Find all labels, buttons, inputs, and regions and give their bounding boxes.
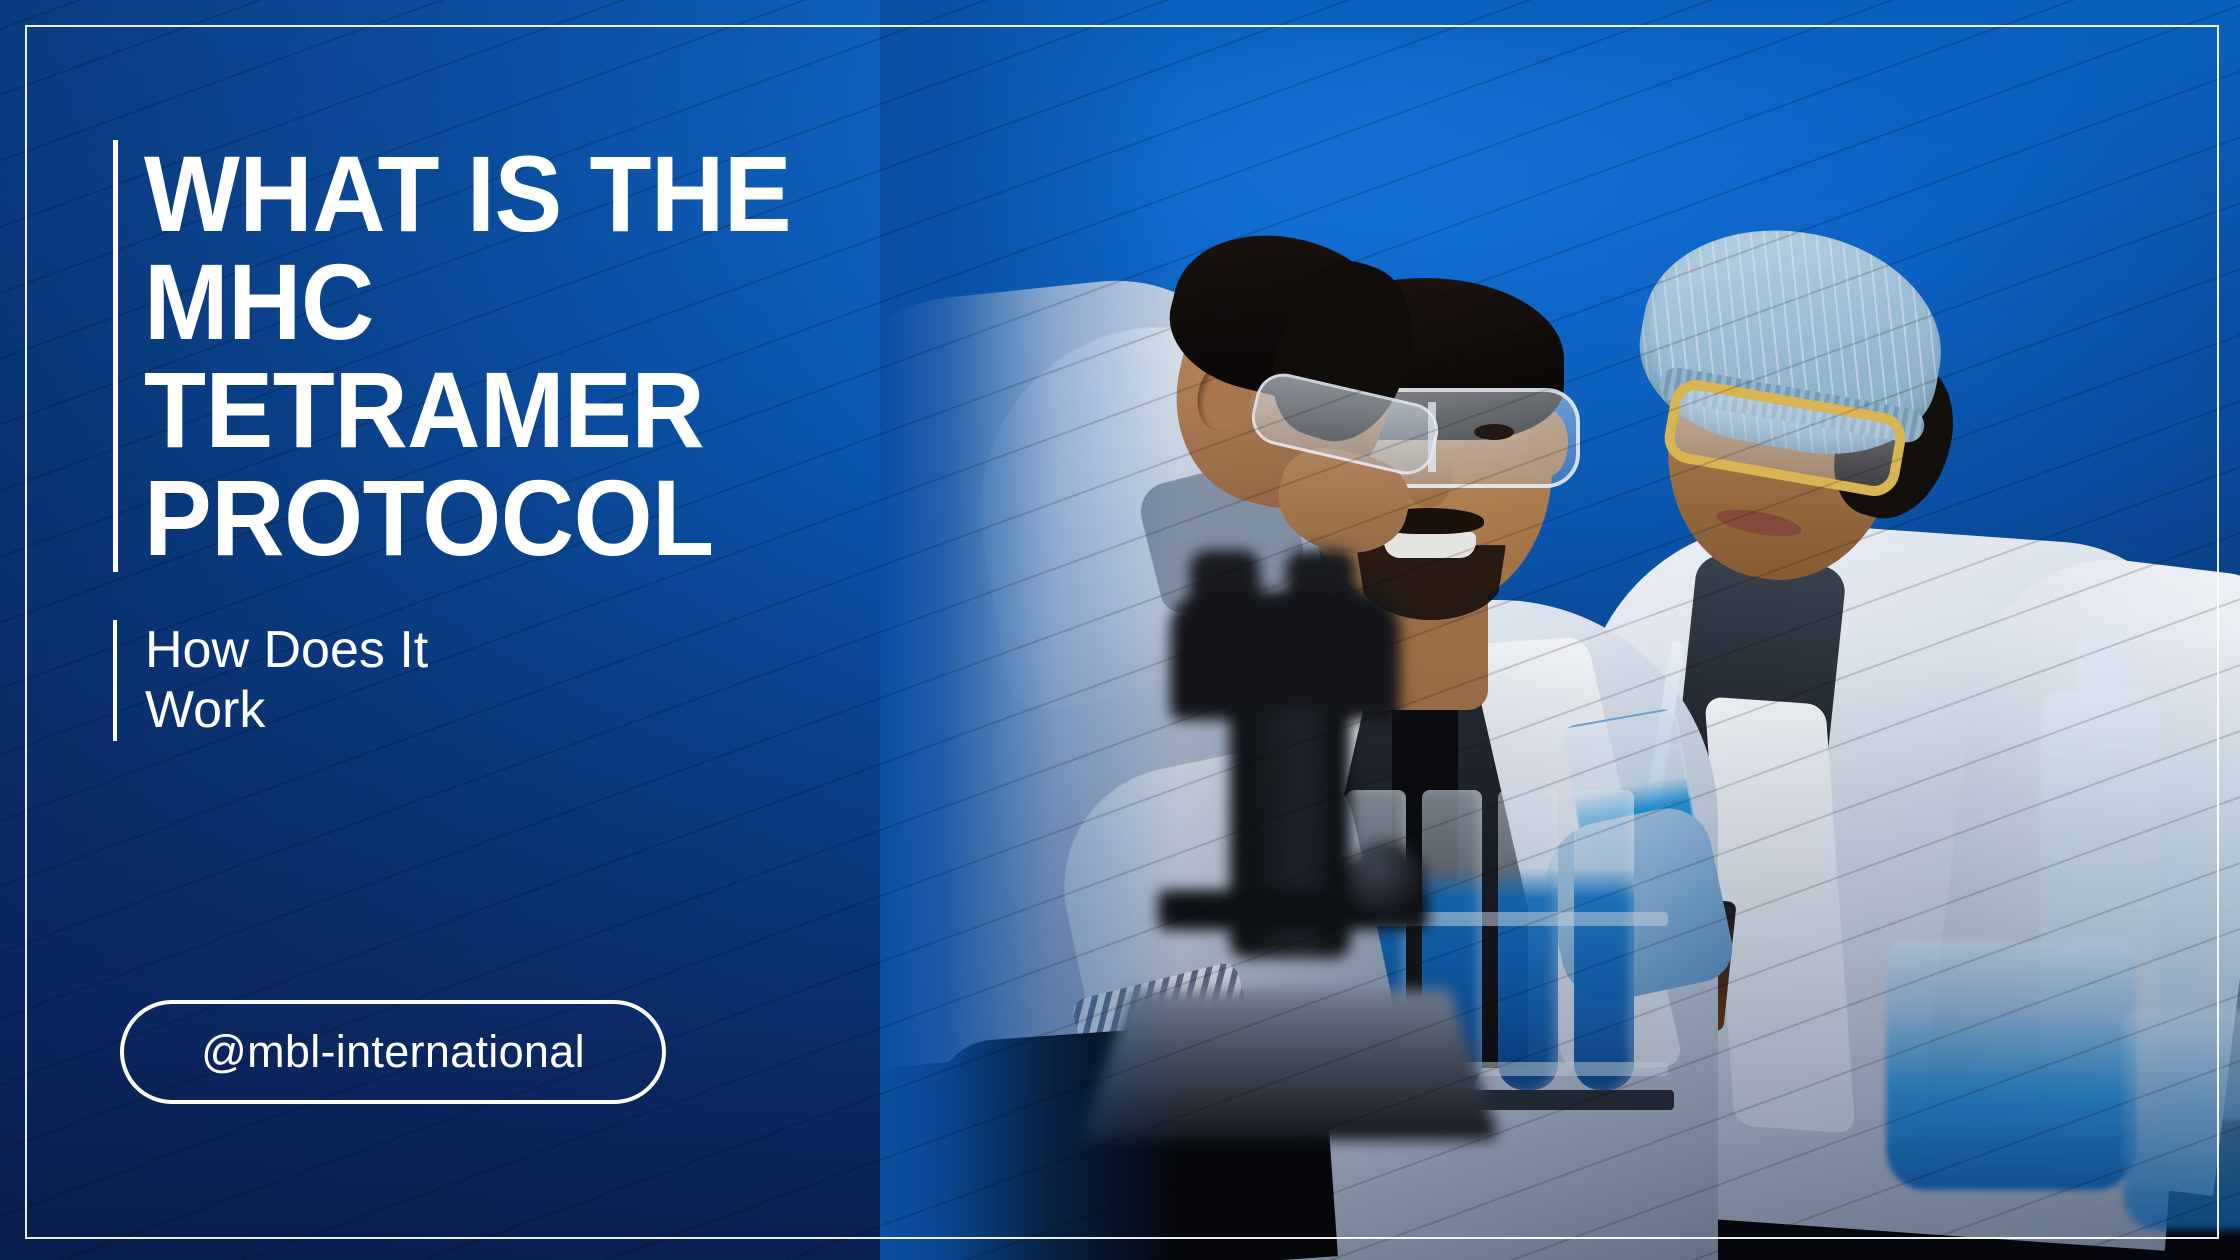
- title-accent-bar: WHAT IS THE MHC TETRAMER PROTOCOL: [113, 140, 1000, 572]
- social-banner: WHAT IS THE MHC TETRAMER PROTOCOL How Do…: [0, 0, 2240, 1260]
- page-title: WHAT IS THE MHC TETRAMER PROTOCOL: [144, 140, 949, 572]
- social-handle-pill[interactable]: @mbl-international: [120, 1000, 666, 1104]
- page-subtitle: How Does It Work: [145, 620, 428, 741]
- text-content: WHAT IS THE MHC TETRAMER PROTOCOL How Do…: [0, 0, 1000, 1260]
- laboratory-photo: [880, 0, 2240, 1260]
- photo-color-grade: [880, 0, 2240, 1260]
- social-handle-label: @mbl-international: [201, 1026, 585, 1078]
- subtitle-accent-bar: How Does It Work: [113, 620, 428, 741]
